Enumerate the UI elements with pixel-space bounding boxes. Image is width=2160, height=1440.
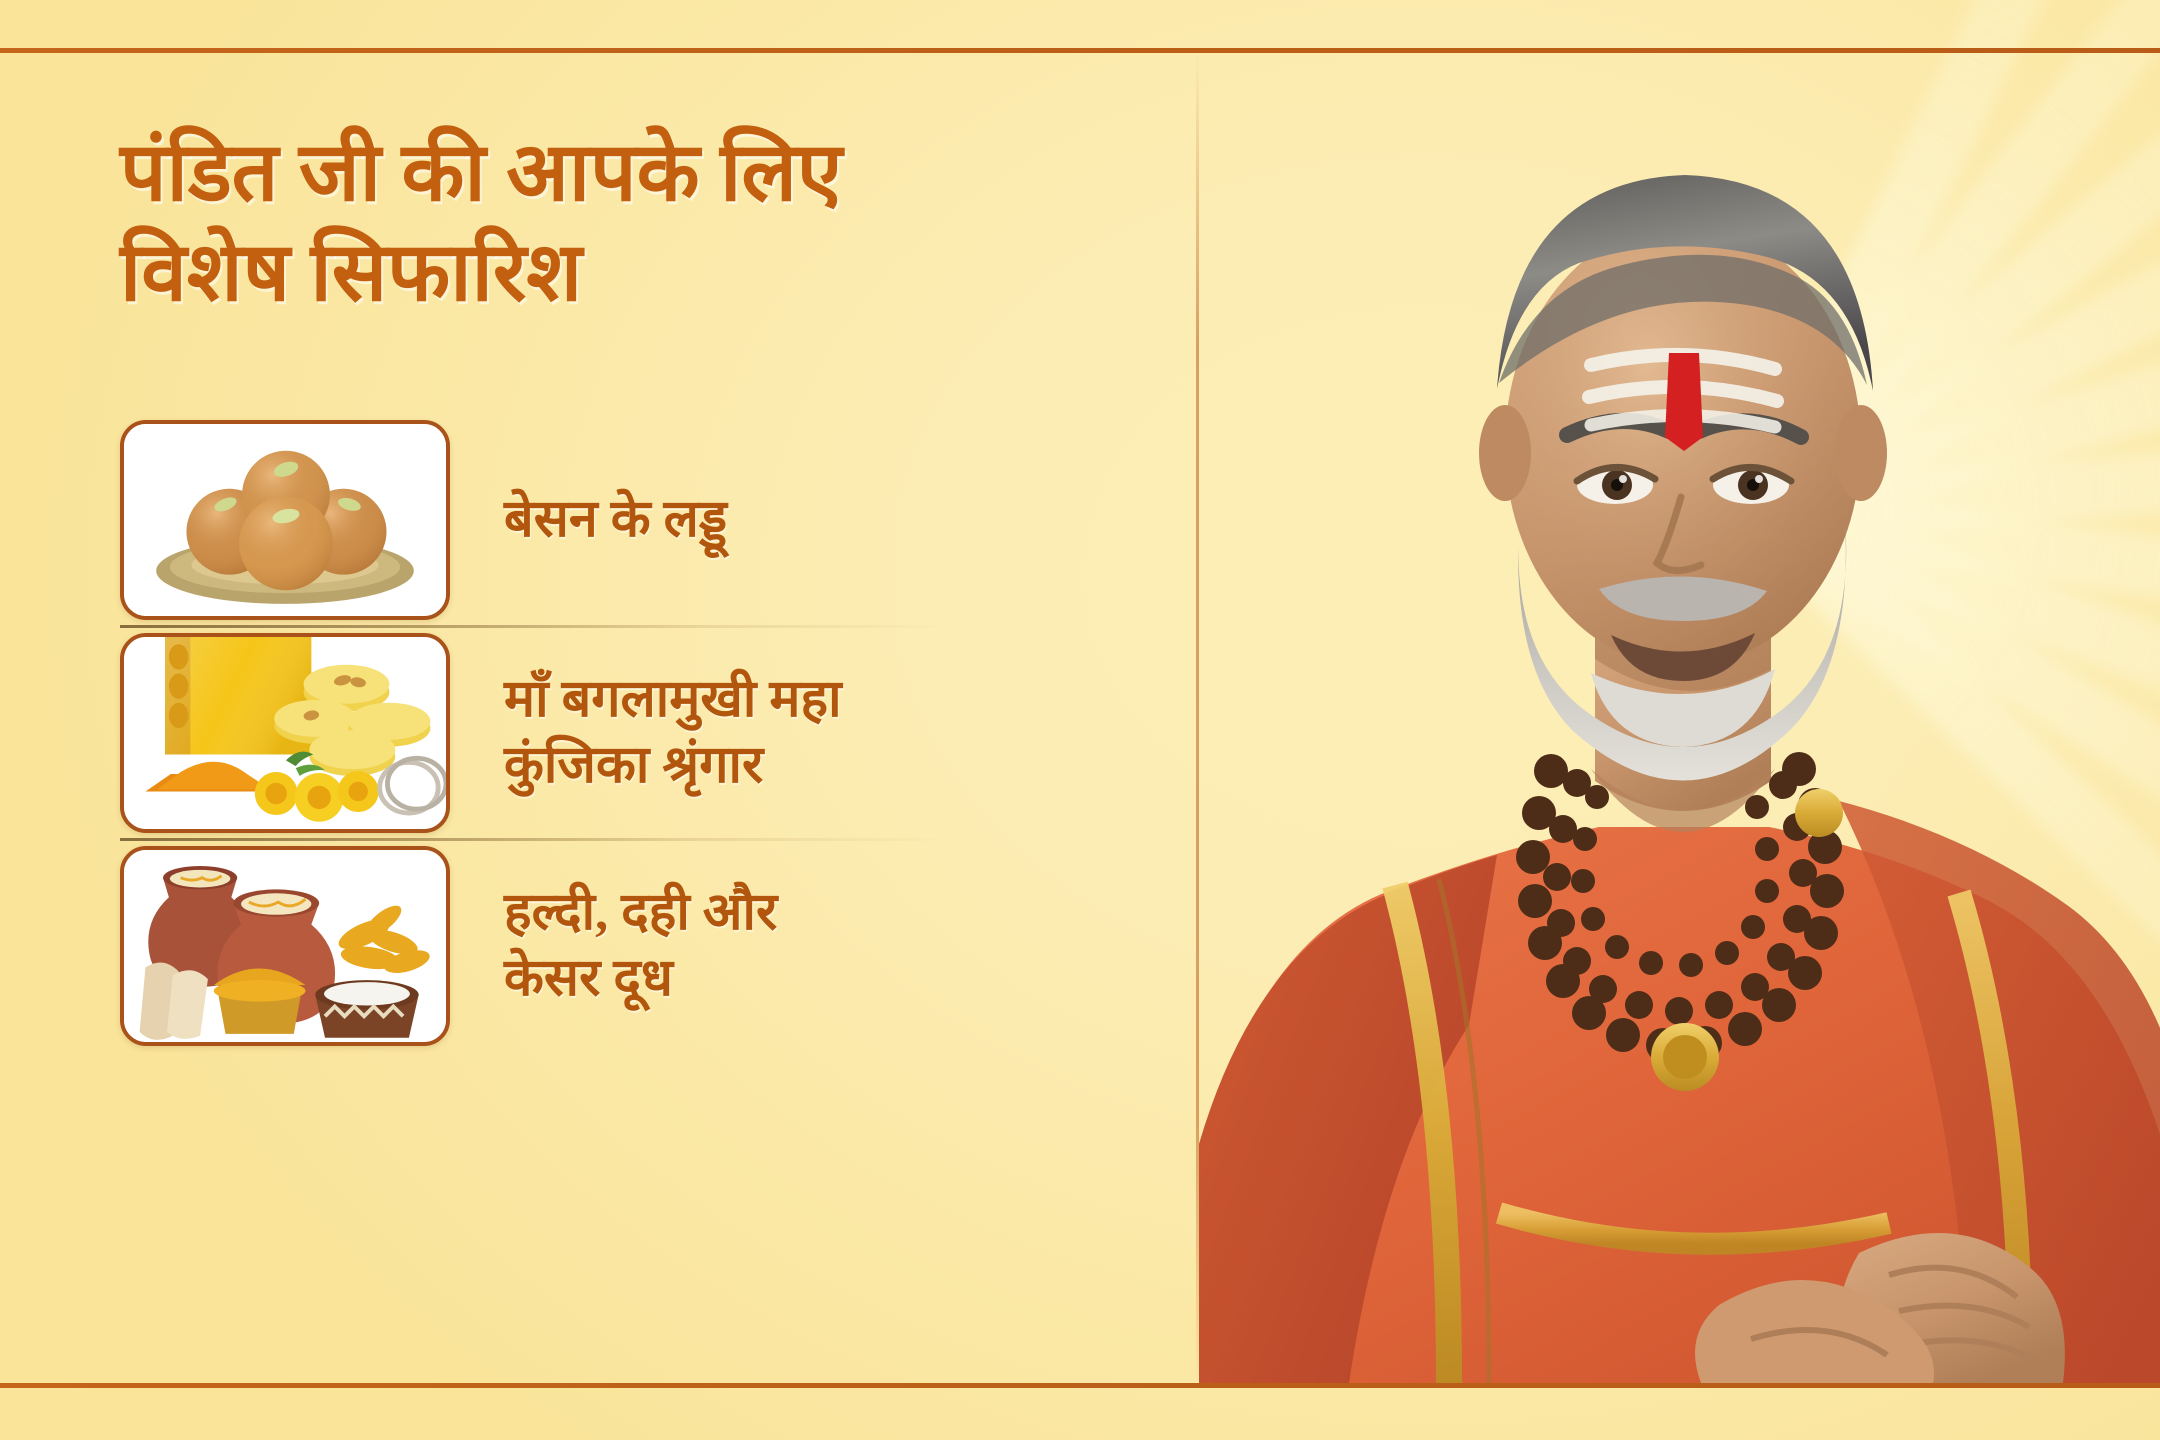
list-item-label-line-1: माँ बगलामुखी महा [504, 667, 842, 734]
list-item-label-line-2: केसर दूध [504, 946, 777, 1013]
turmeric-peda-marigold-bangles-icon [120, 633, 450, 833]
list-item-label: माँ बगलामुखी महा कुंजिका श्रृंगार [504, 667, 842, 800]
left-content-panel: पंडित जी की आपके लिए विशेष सिफारिश [0, 53, 1196, 1383]
title-line-1: पंडित जी की आपके लिए [120, 123, 1196, 223]
clay-pots-saffron-milk-turmeric-curd-icon [120, 846, 450, 1046]
list-item[interactable]: हल्दी, दही और केसर दूध [120, 841, 960, 1051]
recommendation-list: बेसन के लड्डू [120, 415, 960, 1051]
list-item[interactable]: माँ बगलामुखी महा कुंजिका श्रृंगार [120, 628, 960, 838]
page-title: पंडित जी की आपके लिए विशेष सिफारिश [120, 123, 1196, 323]
list-item[interactable]: बेसन के लड्डू [120, 415, 960, 625]
right-figure-panel [1199, 53, 2160, 1383]
list-item-label: बेसन के लड्डू [504, 487, 727, 554]
pandit-portrait-image [1199, 53, 2160, 1383]
besan-laddu-plate-icon [120, 420, 450, 620]
title-line-2: विशेष सिफारिश [120, 223, 1196, 323]
list-item-label: हल्दी, दही और केसर दूध [504, 880, 777, 1013]
list-item-label-line-2: कुंजिका श्रृंगार [504, 733, 842, 800]
list-item-label-line-1: हल्दी, दही और [504, 880, 777, 947]
bottom-rule [0, 1383, 2160, 1388]
recommendation-banner: पंडित जी की आपके लिए विशेष सिफारिश [0, 0, 2160, 1440]
